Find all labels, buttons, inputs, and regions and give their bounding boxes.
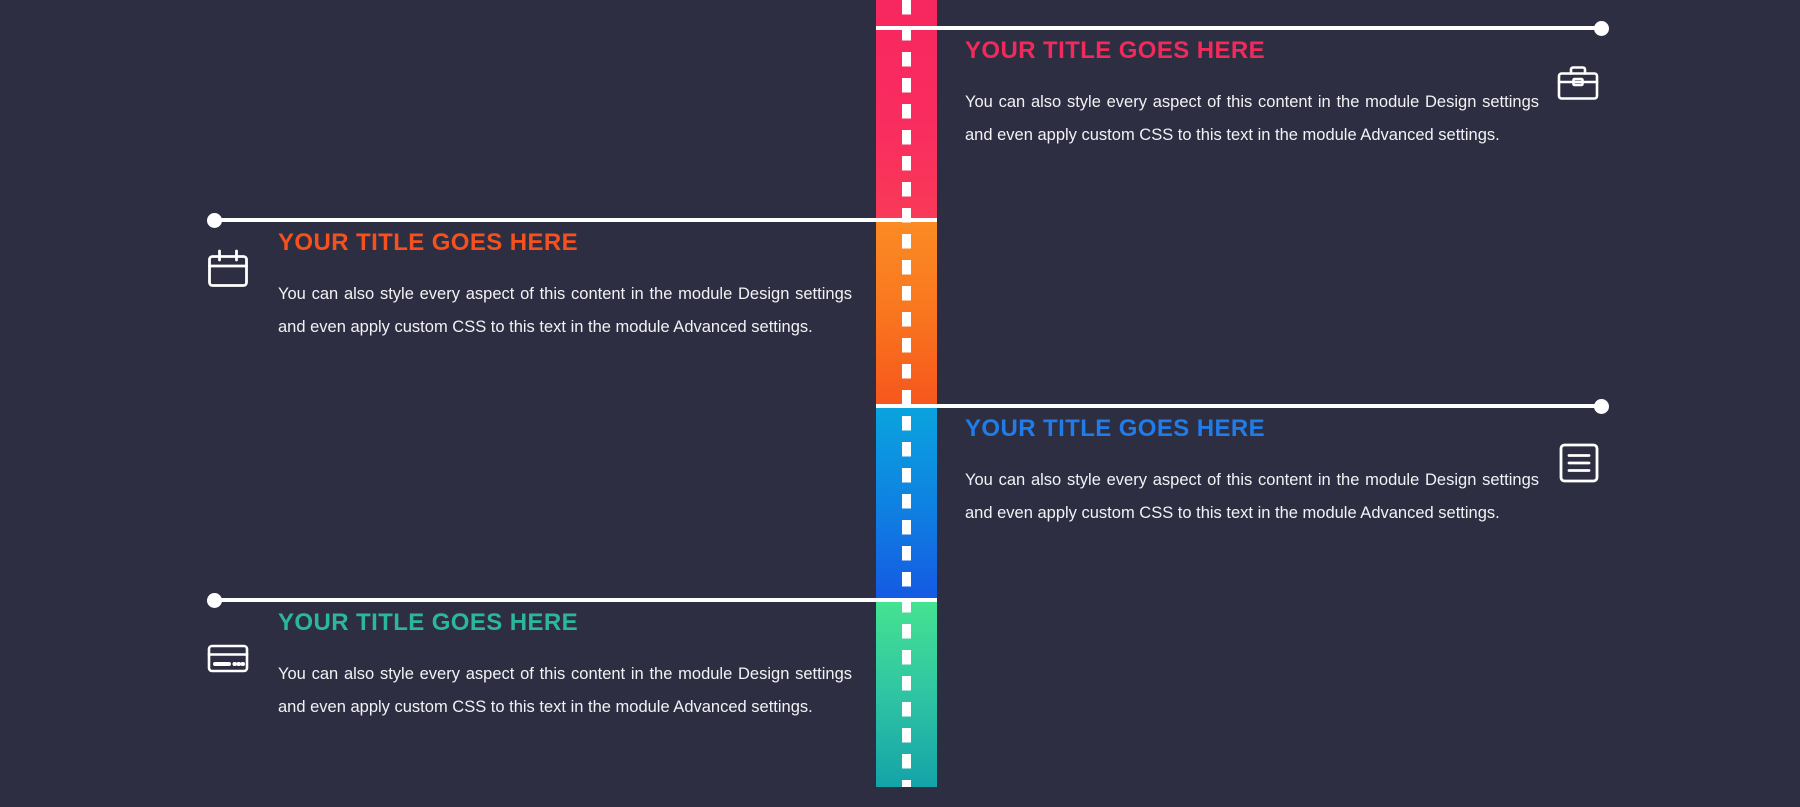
- timeline-item-1-title: YOUR TITLE GOES HERE: [965, 38, 1645, 64]
- list-icon: [1556, 440, 1602, 486]
- timeline-item-4: YOUR TITLE GOES HERE You can also style …: [278, 610, 958, 724]
- connector-rail-2: [212, 218, 937, 222]
- timeline-infographic: YOUR TITLE GOES HERE You can also style …: [0, 0, 1800, 807]
- timeline-item-3-title: YOUR TITLE GOES HERE: [965, 416, 1645, 442]
- timeline-item-2-title: YOUR TITLE GOES HERE: [278, 230, 958, 256]
- timeline-item-4-title: YOUR TITLE GOES HERE: [278, 610, 958, 636]
- timeline-item-4-body: You can also style every aspect of this …: [278, 658, 852, 724]
- briefcase-icon: [1555, 60, 1601, 106]
- timeline-item-1-body: You can also style every aspect of this …: [965, 86, 1539, 152]
- connector-rail-4: [212, 598, 937, 602]
- timeline-item-2-body: You can also style every aspect of this …: [278, 278, 852, 344]
- timeline-item-3: YOUR TITLE GOES HERE You can also style …: [965, 416, 1645, 530]
- calendar-icon: [205, 246, 251, 292]
- connector-dot-2: [207, 213, 222, 228]
- connector-dot-1: [1594, 21, 1609, 36]
- connector-dot-3: [1594, 399, 1609, 414]
- credit-card-icon: [205, 635, 251, 681]
- timeline-item-3-body: You can also style every aspect of this …: [965, 464, 1539, 530]
- timeline-item-2: YOUR TITLE GOES HERE You can also style …: [278, 230, 958, 344]
- connector-rail-1: [876, 26, 1602, 30]
- connector-dot-4: [207, 593, 222, 608]
- connector-rail-3: [876, 404, 1602, 408]
- timeline-item-1: YOUR TITLE GOES HERE You can also style …: [965, 38, 1645, 152]
